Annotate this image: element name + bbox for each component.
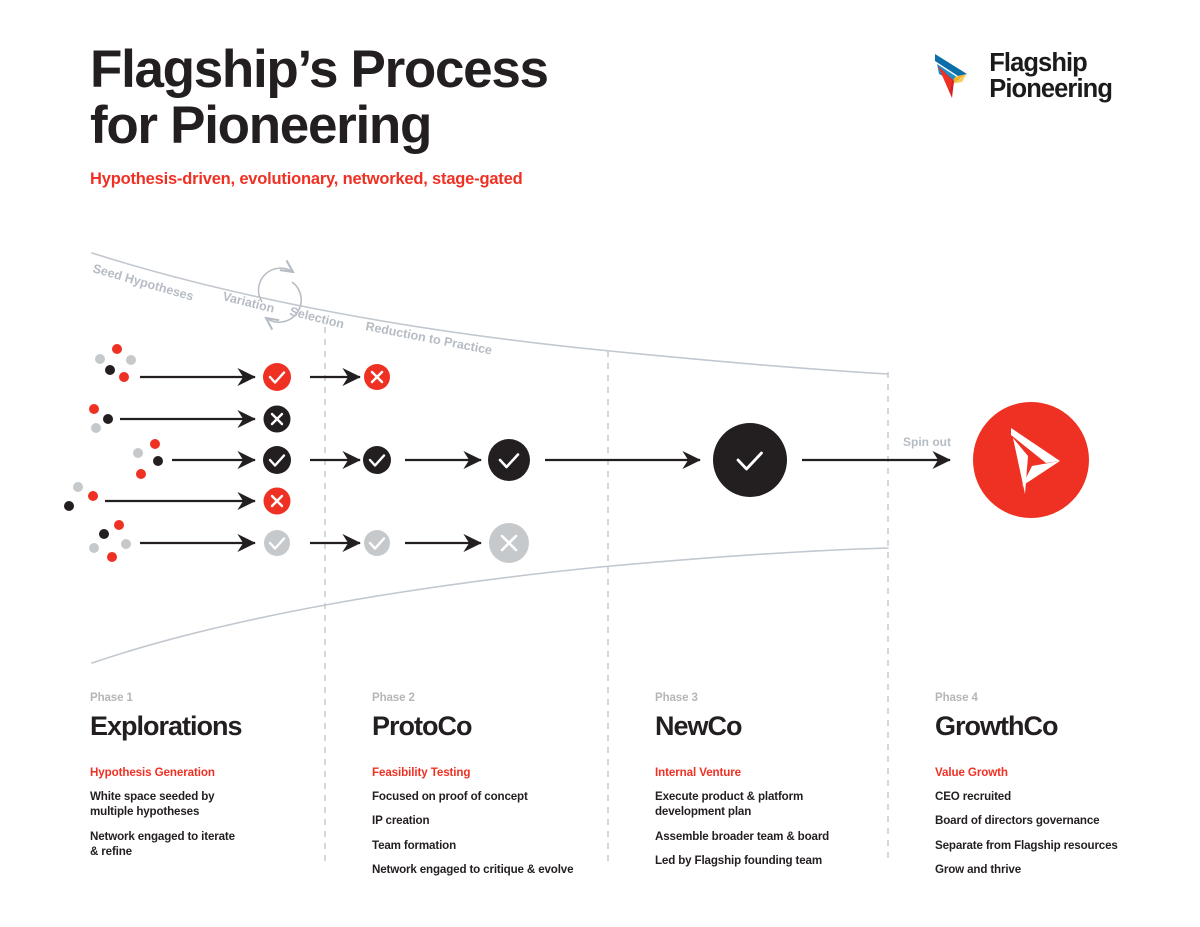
spin-out-circle	[973, 402, 1089, 518]
check-icon	[370, 456, 384, 466]
seed-dot	[153, 456, 163, 466]
hypothesis-row-5	[89, 520, 529, 563]
stage-node-pass	[488, 439, 530, 481]
seed-dot	[136, 469, 146, 479]
seed-dot	[133, 448, 143, 458]
phase-column-4: Phase 4 GrowthCo Value Growth CEO recrui…	[935, 692, 1175, 887]
phase-bullet: IP creation	[372, 813, 602, 828]
stage-node-fail	[264, 406, 291, 433]
phase-bullet: CEO recruited	[935, 789, 1175, 804]
seed-dot	[91, 423, 101, 433]
flow-label-selection: Selection	[288, 304, 345, 331]
stage-node-pass	[363, 446, 391, 474]
phase-bullet: Team formation	[372, 838, 602, 853]
stage-node-fail	[264, 488, 291, 515]
phase-subhead: Feasibility Testing	[372, 766, 602, 779]
seed-dot	[114, 520, 124, 530]
stage-node-fail	[489, 523, 529, 563]
seed-dot-cluster-5	[89, 520, 131, 562]
phase-bullet: Grow and thrive	[935, 862, 1175, 877]
seed-dot	[89, 543, 99, 553]
logo-line-1: Flagship	[989, 50, 1112, 76]
hypothesis-row-4	[64, 482, 291, 515]
flow-label-variation: Variation	[221, 289, 276, 315]
seed-dot	[64, 501, 74, 511]
flow-labels: Seed Hypotheses Variation Selection Redu…	[91, 261, 951, 449]
phase-bullet-list: Focused on proof of concept IP creation …	[372, 789, 602, 878]
flow-label-seed-hypotheses: Seed Hypotheses	[91, 261, 195, 303]
spin-out-company-badge	[973, 402, 1089, 518]
logo-line-2: Pioneering	[989, 76, 1112, 102]
logo-wordmark: Flagship Pioneering	[989, 50, 1112, 102]
page-title: Flagship’s Process for Pioneering	[90, 42, 810, 154]
seed-dot-cluster-2	[89, 404, 113, 433]
hypothesis-row-1	[95, 344, 390, 391]
phase-bullet: Assemble broader team & board	[655, 829, 895, 844]
flagship-pioneering-logo: Flagship Pioneering	[933, 48, 1112, 104]
phase-bullet-list: CEO recruited Board of directors governa…	[935, 789, 1175, 878]
cross-icon	[502, 536, 516, 550]
seed-dot	[73, 482, 83, 492]
phase-bullet: Board of directors governance	[935, 813, 1175, 828]
seed-dot	[121, 539, 131, 549]
seed-dot	[126, 355, 136, 365]
seed-dot	[107, 552, 117, 562]
flow-label-spin-out: Spin out	[903, 435, 951, 449]
funnel-boundaries	[92, 253, 888, 663]
check-icon	[270, 373, 284, 383]
funnel-bottom-curve	[92, 548, 888, 663]
stage-node-pass	[713, 423, 787, 497]
stage-node-deprioritized	[364, 530, 390, 556]
header: Flagship’s Process for Pioneering Hypoth…	[90, 42, 810, 189]
phase-name: Explorations	[90, 713, 320, 740]
phase-kicker: Phase 3	[655, 692, 895, 704]
seed-dot-cluster-4	[64, 482, 98, 511]
phase-subhead: Hypothesis Generation	[90, 766, 320, 779]
hypothesis-row-2	[89, 404, 291, 433]
phase-subhead: Value Growth	[935, 766, 1175, 779]
phase-bullet: Network engaged to critique & evolve	[372, 862, 602, 877]
phase-name: GrowthCo	[935, 713, 1175, 740]
flow-label-reduction-to-practice: Reduction to Practice	[364, 319, 493, 357]
phase-bullet-list: White space seeded by multiple hypothese…	[90, 789, 320, 860]
flagship-arrow-white-icon	[1011, 428, 1060, 494]
seed-dot	[119, 372, 129, 382]
cross-icon	[272, 496, 282, 506]
iteration-loop-icon	[259, 268, 302, 322]
check-icon	[370, 539, 384, 549]
seed-dot	[99, 529, 109, 539]
page-subtitle: Hypothesis-driven, evolutionary, network…	[90, 170, 810, 189]
phase-column-1: Phase 1 Explorations Hypothesis Generati…	[90, 692, 320, 869]
seed-dot	[89, 404, 99, 414]
funnel-top-curve	[92, 253, 888, 374]
seed-dot	[150, 439, 160, 449]
phase-bullet: White space seeded by multiple hypothese…	[90, 789, 320, 820]
phase-subhead: Internal Venture	[655, 766, 895, 779]
seed-dot-cluster-3	[133, 439, 163, 479]
hypothesis-row-3	[133, 423, 950, 497]
stage-node-fail	[364, 364, 390, 390]
check-icon	[270, 539, 284, 549]
phase-bullet: Led by Flagship founding team	[655, 853, 895, 868]
phase-kicker: Phase 4	[935, 692, 1175, 704]
stage-node-pass	[263, 446, 291, 474]
phase-bullet: Network engaged to iterate & refine	[90, 829, 320, 860]
phase-bullet: Separate from Flagship resources	[935, 838, 1175, 853]
seed-dot	[103, 414, 113, 424]
cross-icon	[272, 414, 282, 424]
phase-kicker: Phase 2	[372, 692, 602, 704]
stage-node-pass	[263, 363, 291, 391]
phase-name: NewCo	[655, 713, 895, 740]
seed-dot	[112, 344, 122, 354]
seed-dot	[105, 365, 115, 375]
seed-dot-cluster-1	[95, 344, 136, 382]
phase-bullet-list: Execute product & platform development p…	[655, 789, 895, 869]
flagship-arrow-icon	[933, 48, 977, 104]
phase-bullet: Focused on proof of concept	[372, 789, 602, 804]
check-icon	[738, 453, 762, 469]
check-icon	[270, 456, 284, 466]
seed-dot	[95, 354, 105, 364]
cross-icon	[372, 372, 382, 382]
stage-node-deprioritized	[264, 530, 290, 556]
infographic-page: Flagship’s Process for Pioneering Hypoth…	[0, 0, 1200, 927]
phase-bullet: Execute product & platform development p…	[655, 789, 895, 820]
phase-kicker: Phase 1	[90, 692, 320, 704]
check-icon	[500, 455, 518, 468]
phase-name: ProtoCo	[372, 713, 602, 740]
phase-column-3: Phase 3 NewCo Internal Venture Execute p…	[655, 692, 895, 878]
phase-columns: Phase 1 Explorations Hypothesis Generati…	[0, 692, 1200, 882]
seed-dot	[88, 491, 98, 501]
phase-column-2: Phase 2 ProtoCo Feasibility Testing Focu…	[372, 692, 602, 887]
